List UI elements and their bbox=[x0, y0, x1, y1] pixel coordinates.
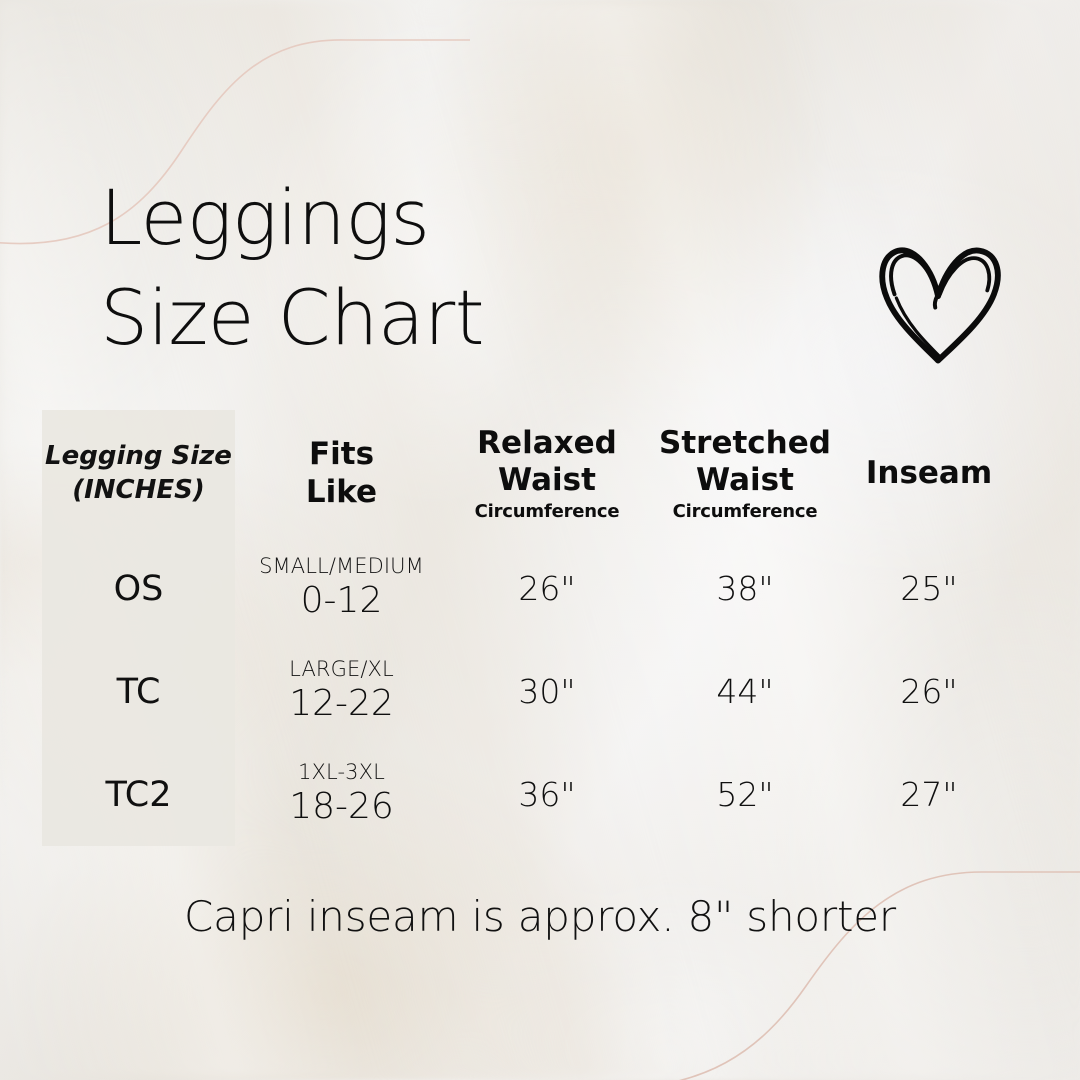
size-chart-table: Legging Size (INCHES) Fits Like Relaxed … bbox=[42, 410, 1014, 846]
cell-fits-like-range: 18-26 bbox=[235, 786, 448, 828]
cell-fits-like: 1XL-3XL 18-26 bbox=[235, 743, 448, 846]
table-row: OS SMALL/MEDIUM 0-12 26" 38" 25" bbox=[42, 537, 1014, 640]
cell-stretched-waist: 52" bbox=[646, 743, 844, 846]
column-header-stretched-waist-sub: Circumference bbox=[646, 501, 844, 522]
column-header-legging-size-line-2: (INCHES) bbox=[72, 475, 205, 505]
cell-relaxed-waist: 26" bbox=[448, 537, 646, 640]
page-title-line-2: Size Chart bbox=[100, 268, 720, 368]
doodle-heart-icon bbox=[868, 228, 1010, 370]
column-header-fits-like-line-1: Fits bbox=[309, 436, 374, 472]
table-header: Legging Size (INCHES) Fits Like Relaxed … bbox=[42, 410, 1014, 537]
column-header-fits-like-line-2: Like bbox=[306, 474, 377, 510]
column-header-relaxed-waist: Relaxed Waist Circumference bbox=[448, 410, 646, 537]
cell-size: OS bbox=[42, 537, 235, 640]
cell-size: TC2 bbox=[42, 743, 235, 846]
cell-stretched-waist: 44" bbox=[646, 640, 844, 743]
page-title: Leggings Size Chart bbox=[100, 168, 720, 369]
column-header-relaxed-waist-line-2: Waist bbox=[498, 462, 596, 498]
cell-stretched-waist: 38" bbox=[646, 537, 844, 640]
column-header-relaxed-waist-line-1: Relaxed bbox=[477, 425, 617, 461]
cell-size: TC bbox=[42, 640, 235, 743]
column-header-legging-size-line-1: Legging Size bbox=[45, 441, 232, 471]
column-header-stretched-waist-line-1: Stretched bbox=[659, 425, 831, 461]
table-row: TC2 1XL-3XL 18-26 36" 52" 27" bbox=[42, 743, 1014, 846]
cell-fits-like-range: 0-12 bbox=[235, 580, 448, 622]
cell-inseam: 27" bbox=[844, 743, 1014, 846]
cell-fits-like-label: 1XL-3XL bbox=[235, 761, 448, 784]
table-header-row: Legging Size (INCHES) Fits Like Relaxed … bbox=[42, 410, 1014, 537]
cell-inseam: 26" bbox=[844, 640, 1014, 743]
cell-fits-like-range: 12-22 bbox=[235, 683, 448, 725]
cell-relaxed-waist: 36" bbox=[448, 743, 646, 846]
table-body: OS SMALL/MEDIUM 0-12 26" 38" 25" TC LARG… bbox=[42, 537, 1014, 846]
page-title-line-1: Leggings bbox=[100, 168, 720, 268]
cell-fits-like: SMALL/MEDIUM 0-12 bbox=[235, 537, 448, 640]
column-header-stretched-waist-line-2: Waist bbox=[696, 462, 794, 498]
footer-note: Capri inseam is approx. 8" shorter bbox=[0, 892, 1080, 941]
column-header-inseam-label: Inseam bbox=[866, 455, 992, 491]
cell-relaxed-waist: 30" bbox=[448, 640, 646, 743]
size-chart-poster: Leggings Size Chart Legging Size (INCHES… bbox=[0, 0, 1080, 1080]
table-row: TC LARGE/XL 12-22 30" 44" 26" bbox=[42, 640, 1014, 743]
column-header-stretched-waist: Stretched Waist Circumference bbox=[646, 410, 844, 537]
cell-fits-like-label: SMALL/MEDIUM bbox=[235, 555, 448, 578]
column-header-legging-size: Legging Size (INCHES) bbox=[42, 410, 235, 537]
cell-fits-like: LARGE/XL 12-22 bbox=[235, 640, 448, 743]
cell-inseam: 25" bbox=[844, 537, 1014, 640]
column-header-relaxed-waist-sub: Circumference bbox=[448, 501, 646, 522]
column-header-inseam: Inseam bbox=[844, 410, 1014, 537]
column-header-fits-like: Fits Like bbox=[235, 410, 448, 537]
cell-fits-like-label: LARGE/XL bbox=[235, 658, 448, 681]
